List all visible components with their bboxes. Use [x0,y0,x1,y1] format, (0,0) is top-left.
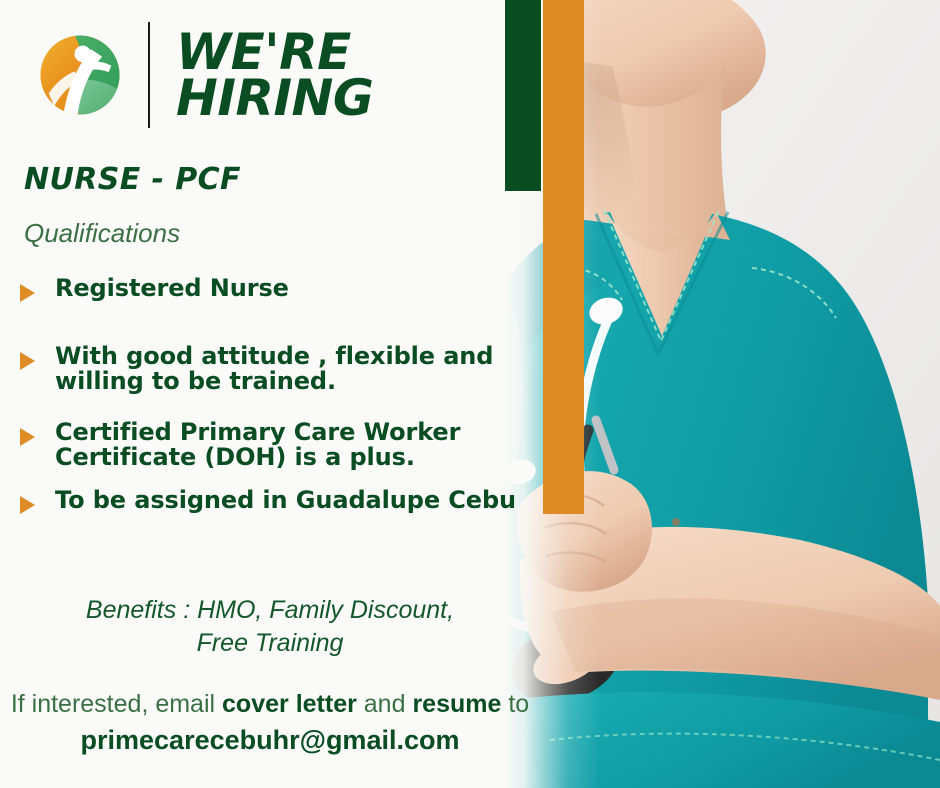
list-item: Registered Nurse [20,276,530,302]
list-item-label: Certified Primary Care Worker Certificat… [55,420,530,470]
list-item: Certified Primary Care Worker Certificat… [20,420,530,470]
triangle-bullet-icon [20,352,35,370]
hiring-poster: WE'RE HIRING NURSE - PCF Qualifications … [0,0,940,788]
person-in-circle-logo-icon [34,29,126,121]
contact-line-part-3: to [501,690,529,718]
contact-instructions: If interested, email cover letter and re… [0,688,540,758]
triangle-bullet-icon [20,496,35,514]
triangle-bullet-icon [20,428,35,446]
qualifications-label: Qualifications [24,218,180,249]
headline-were-hiring: WE'RE HIRING [176,29,373,121]
contact-emphasis-cover-letter: cover letter [222,690,357,718]
contact-emphasis-resume: resume [412,690,501,718]
orange-accent-bar [543,0,584,514]
header-divider [148,22,150,128]
poster-header: WE'RE HIRING [34,22,373,128]
contact-email-address[interactable]: primecarecebuhr@gmail.com [0,723,540,758]
triangle-bullet-icon [20,284,35,302]
list-item: To be assigned in Guadalupe Cebu [20,488,530,514]
list-item-label: With good attitude , flexible and willin… [55,344,530,394]
list-item-label: To be assigned in Guadalupe Cebu [55,488,516,513]
job-title: NURSE - PCF [24,162,241,197]
list-item-label: Registered Nurse [55,276,289,301]
qualifications-list: Registered Nurse With good attitude , fl… [20,276,530,514]
list-item: With good attitude , flexible and willin… [20,344,530,394]
green-accent-bar [505,0,541,191]
benefits-text: Benefits : HMO, Family Discount, Free Tr… [10,594,530,659]
contact-line-part-1: If interested, email [11,690,222,718]
contact-line-part-2: and [357,690,413,718]
